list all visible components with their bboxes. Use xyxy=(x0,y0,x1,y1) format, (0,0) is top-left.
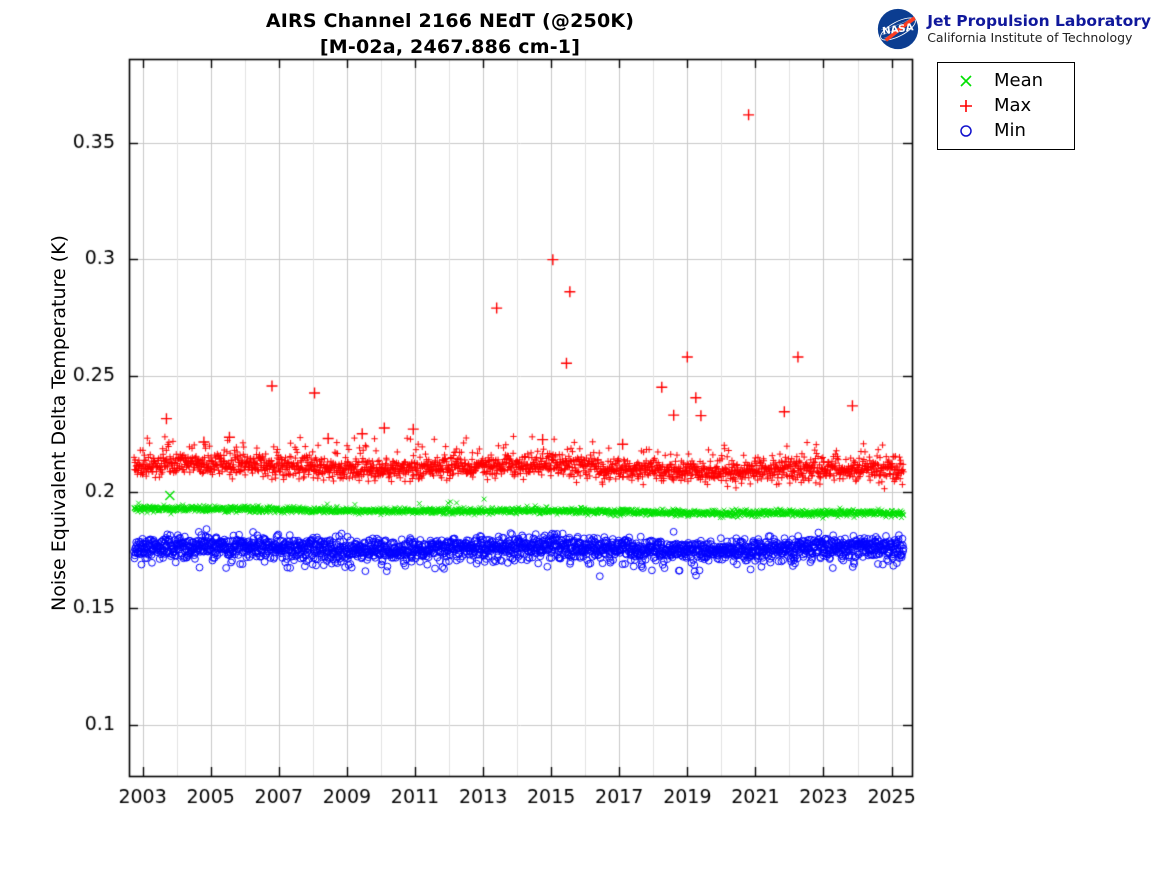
scatter-plot-canvas xyxy=(0,0,1167,875)
y-axis-label: Noise Equivalent Delta Temperature (K) xyxy=(48,188,70,658)
plot-area: Noise Equivalent Delta Temperature (K) xyxy=(0,0,1167,875)
